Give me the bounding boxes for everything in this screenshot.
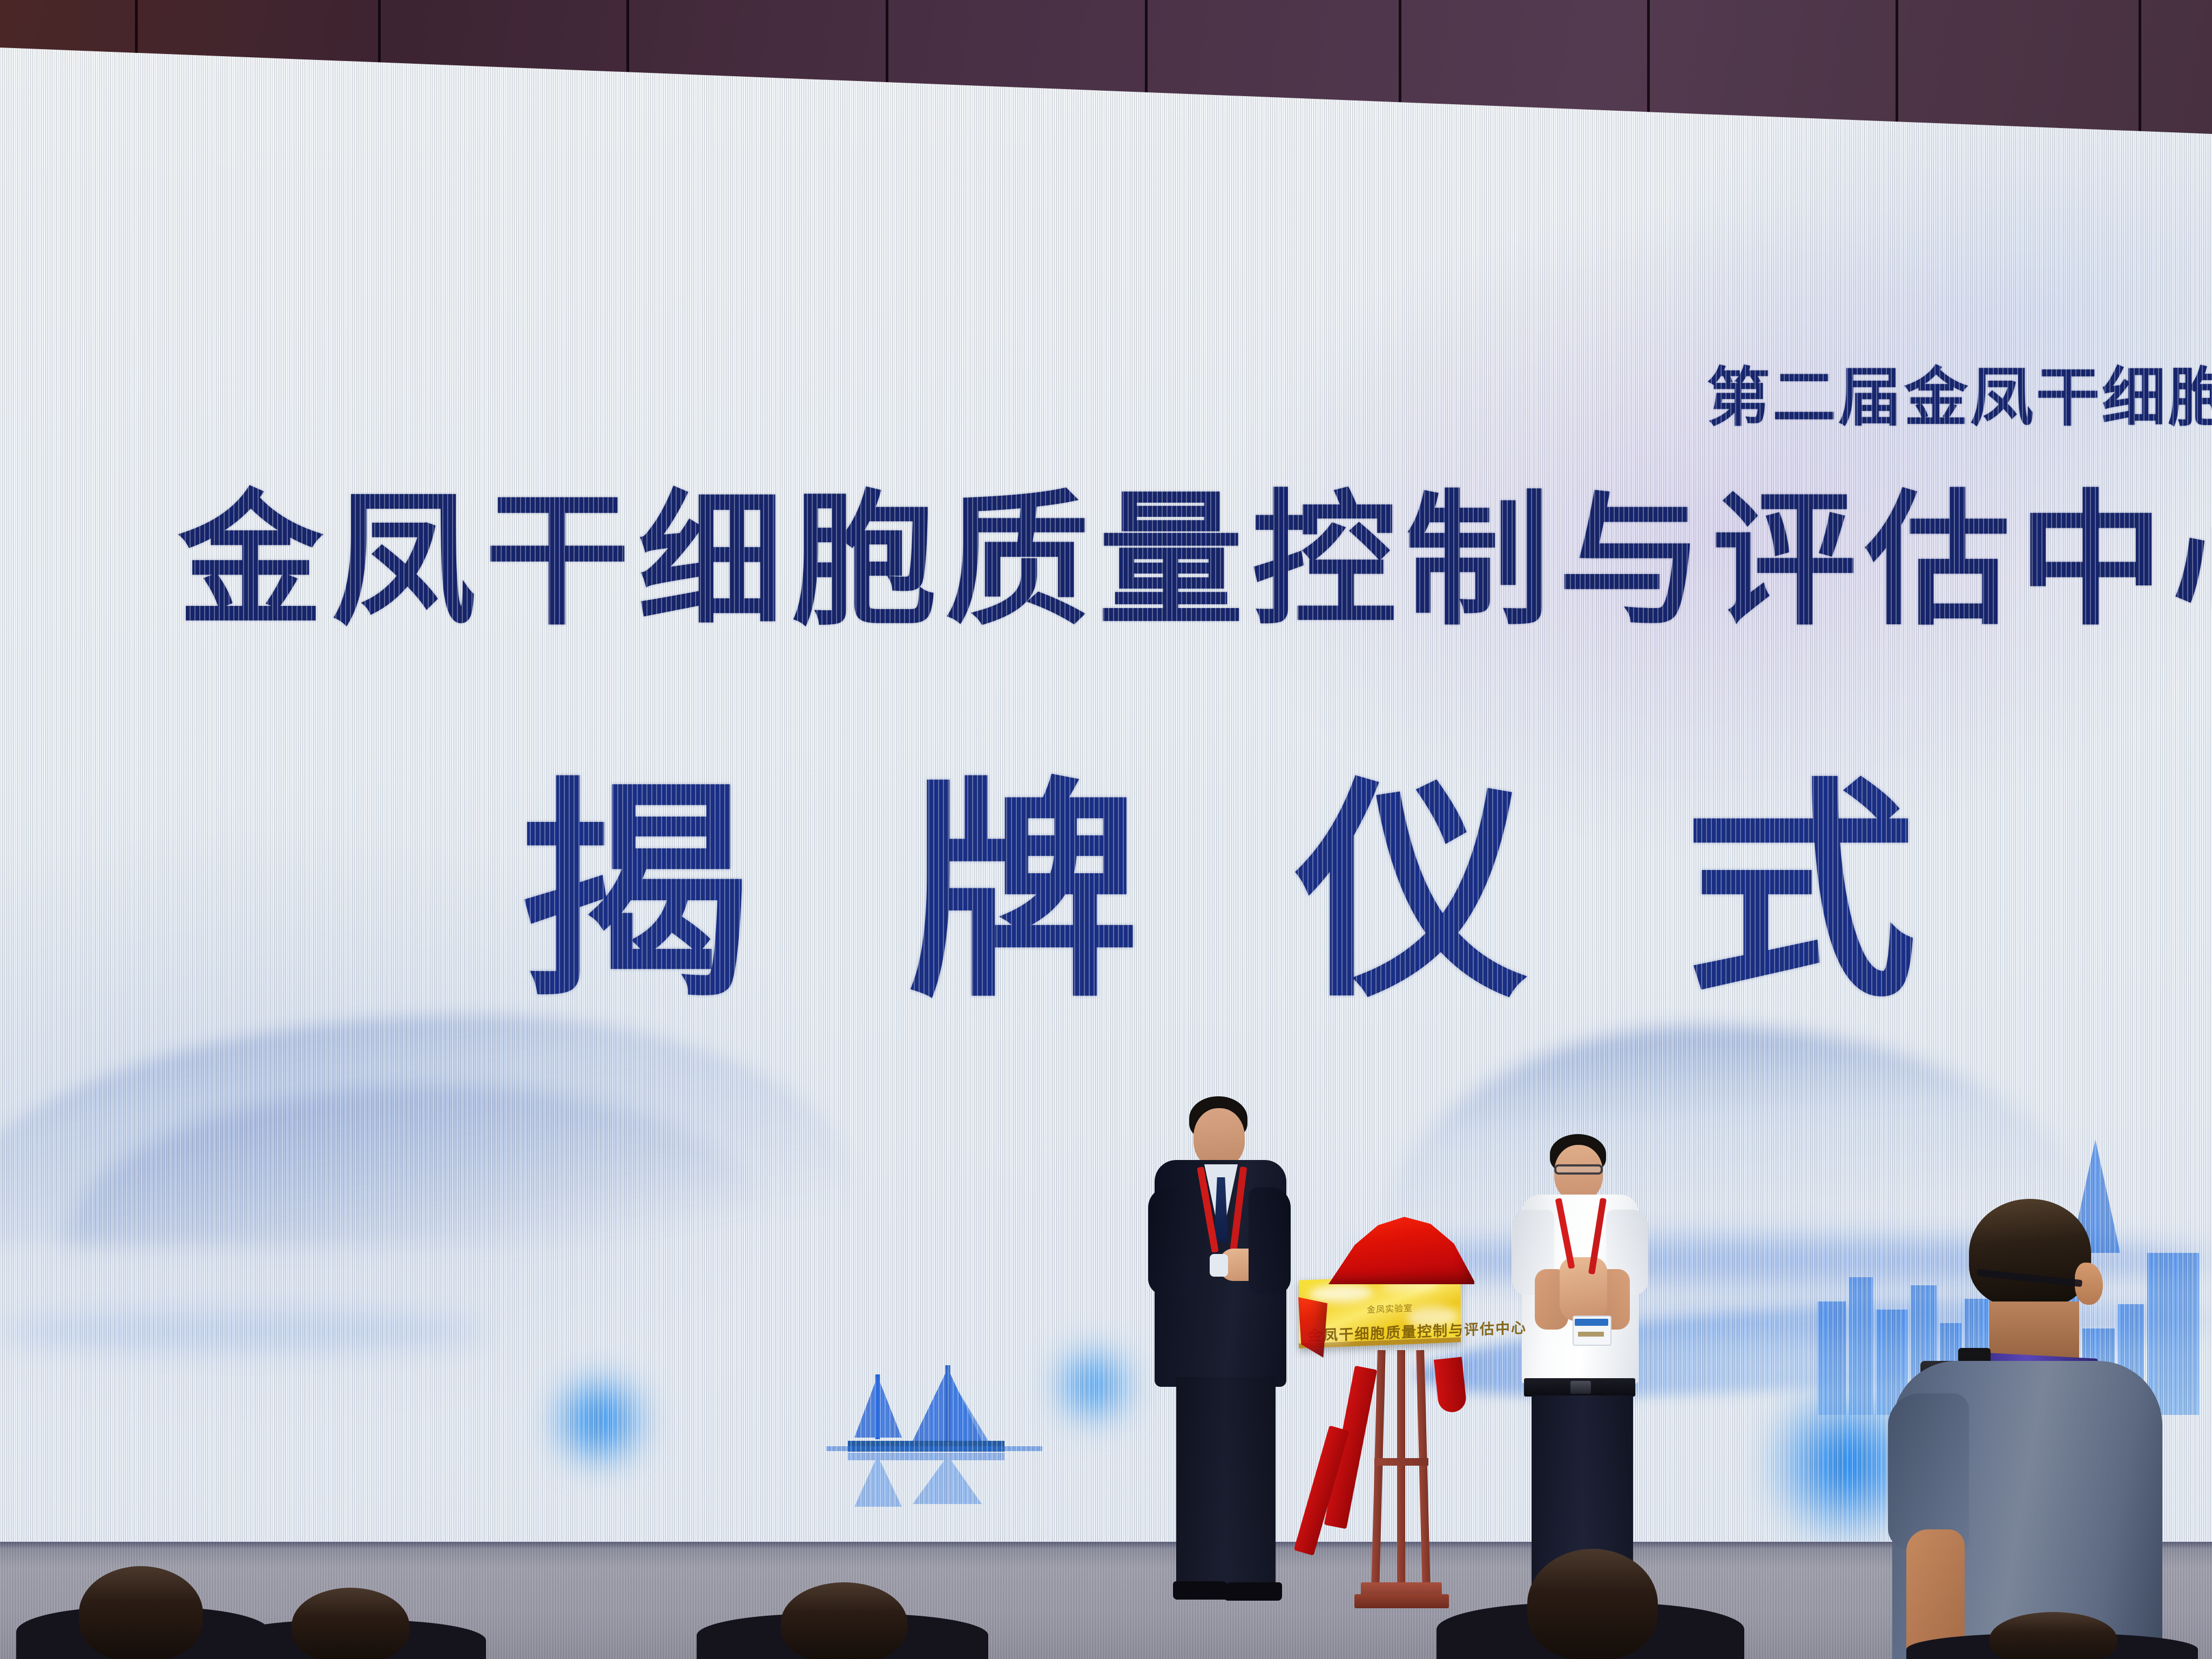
shoe-left bbox=[1173, 1581, 1229, 1600]
screen-title-line: 金凤干细胞质量控制与评估中心 bbox=[178, 489, 2212, 633]
audience-head-5 bbox=[1966, 1612, 2139, 1659]
name-badge-header-bar bbox=[1575, 1319, 1608, 1326]
trousers-right-leg bbox=[1225, 1377, 1276, 1593]
belt-buckle bbox=[1570, 1381, 1591, 1394]
trousers-left-leg bbox=[1176, 1377, 1226, 1593]
person-official-left bbox=[1129, 1096, 1301, 1599]
blue-circle-accent-2 bbox=[1053, 1345, 1134, 1426]
audience-head-4 bbox=[1501, 1549, 1680, 1659]
head bbox=[1193, 1108, 1245, 1168]
photograph-scene: 第二届金凤干细胞 金凤干细胞质量控制与评估中心 揭 牌 仪 式 金凤实验室 金凤… bbox=[0, 0, 2212, 1659]
arm-right bbox=[1249, 1187, 1291, 1295]
eyeglasses bbox=[1554, 1164, 1603, 1175]
wall-panel-label: dark purple vertical wood panels bbox=[0, 0, 8, 1]
easel-crossbar bbox=[1374, 1458, 1428, 1466]
person-official-right bbox=[1496, 1134, 1658, 1604]
audience-head-2 bbox=[270, 1588, 432, 1659]
audience-head-3 bbox=[756, 1582, 929, 1659]
hair bbox=[1969, 1199, 2091, 1307]
blue-circle-accent-1 bbox=[551, 1372, 648, 1469]
shoe-right bbox=[1224, 1582, 1282, 1601]
person-photographer bbox=[1874, 1199, 2176, 1659]
shirt-cuff bbox=[1210, 1254, 1228, 1277]
audience-head-1 bbox=[59, 1566, 221, 1659]
tshirt-sleeve-left bbox=[1888, 1393, 1969, 1550]
easel-base-lower bbox=[1354, 1594, 1449, 1608]
name-badge-text-line bbox=[1578, 1332, 1604, 1337]
banner-top-right: 第二届金凤干细胞 bbox=[1707, 346, 2212, 438]
easel-leg-center bbox=[1397, 1350, 1405, 1588]
plaque-lab-name: 金凤实验室 bbox=[1367, 1301, 1413, 1316]
cloud-band-3 bbox=[0, 1312, 486, 1350]
screen-headline: 揭 牌 仪 式 bbox=[518, 778, 1954, 1010]
sailboat-illustration bbox=[826, 1350, 1058, 1512]
clapping-hands bbox=[1560, 1257, 1607, 1321]
arm-left bbox=[1148, 1187, 1192, 1295]
